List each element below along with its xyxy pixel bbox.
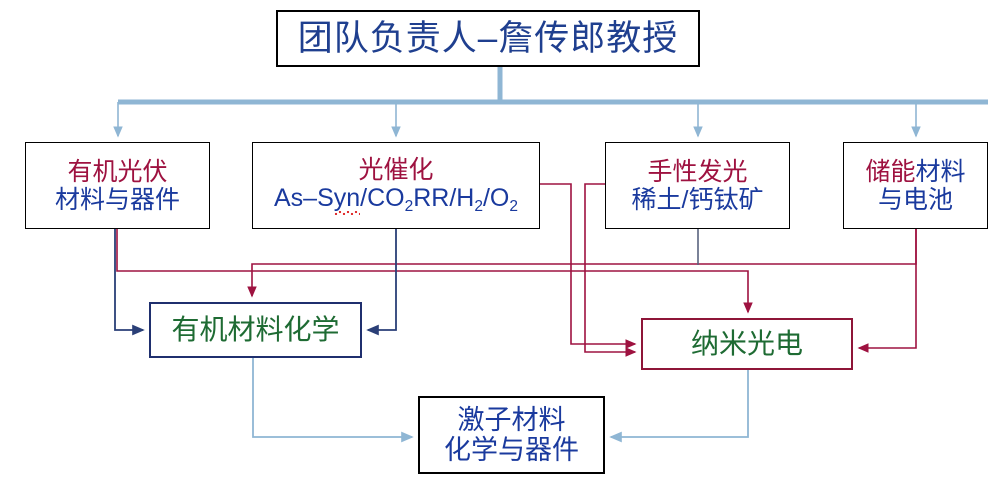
connector-opv-to-orgmat bbox=[115, 229, 143, 330]
node-organic-photovoltaics-line1: 有机光伏 bbox=[67, 158, 167, 186]
node-exciton-materials-line1: 激子材料 bbox=[458, 405, 566, 435]
node-photocatalysis-line1: 光催化 bbox=[358, 156, 433, 184]
formula-misspelled-syn: yn bbox=[334, 184, 360, 212]
node-exciton-materials-line2: 化学与器件 bbox=[444, 435, 579, 465]
node-nano-optoelectronics[interactable]: 纳米光电 bbox=[641, 318, 853, 370]
node-exciton-materials[interactable]: 激子材料 化学与器件 bbox=[418, 396, 605, 474]
connector-energy-to-nano bbox=[859, 229, 916, 348]
node-energy-storage-line1-blue: 材料 bbox=[916, 158, 966, 186]
formula-sub2: 2 bbox=[474, 198, 483, 215]
connector-title-fanout bbox=[118, 67, 988, 136]
formula-sub3: 2 bbox=[509, 198, 518, 215]
node-photocatalysis[interactable]: 光催化 As–Syn/CO2RR/H2/O2 bbox=[252, 142, 540, 229]
formula-part1: As–S bbox=[274, 184, 334, 212]
node-chiral-luminescence-line2: 稀土/钙钛矿 bbox=[632, 186, 764, 214]
connector-photocat-to-orgmat bbox=[368, 229, 396, 330]
node-organic-photovoltaics[interactable]: 有机光伏 材料与器件 bbox=[25, 142, 210, 229]
node-energy-storage-line1: 储能材料 bbox=[865, 158, 965, 186]
node-organic-materials-chemistry[interactable]: 有机材料化学 bbox=[149, 302, 362, 358]
node-energy-storage-line2: 与电池 bbox=[878, 186, 953, 214]
node-nano-optoelectronics-label: 纳米光电 bbox=[691, 328, 803, 359]
node-team-leader[interactable]: 团队负责人–詹传郎教授 bbox=[276, 10, 700, 67]
node-organic-materials-chemistry-label: 有机材料化学 bbox=[171, 314, 339, 345]
connector-orgmat-to-exciton bbox=[253, 358, 412, 437]
node-energy-storage[interactable]: 储能材料 与电池 bbox=[843, 142, 988, 229]
node-organic-photovoltaics-line2: 材料与器件 bbox=[55, 186, 180, 214]
node-energy-storage-line1-red: 储能 bbox=[865, 158, 915, 186]
connector-opv-to-nano bbox=[117, 229, 748, 312]
formula-part2: /CO bbox=[360, 184, 404, 212]
connector-nano-to-exciton bbox=[611, 370, 748, 437]
node-chiral-luminescence-line1: 手性发光 bbox=[647, 158, 747, 186]
formula-sub1: 2 bbox=[405, 198, 414, 215]
node-team-leader-label: 团队负责人–詹传郎教授 bbox=[298, 19, 678, 58]
node-photocatalysis-formula: As–Syn/CO2RR/H2/O2 bbox=[274, 184, 518, 215]
formula-part4: /O bbox=[483, 184, 509, 212]
formula-part3: RR/H bbox=[413, 184, 474, 212]
diagram-canvas: 团队负责人–詹传郎教授 有机光伏 材料与器件 光催化 As–Syn/CO2RR/… bbox=[0, 0, 1005, 483]
connector-energy-to-orgmat bbox=[252, 229, 916, 296]
node-chiral-luminescence[interactable]: 手性发光 稀土/钙钛矿 bbox=[605, 142, 790, 229]
